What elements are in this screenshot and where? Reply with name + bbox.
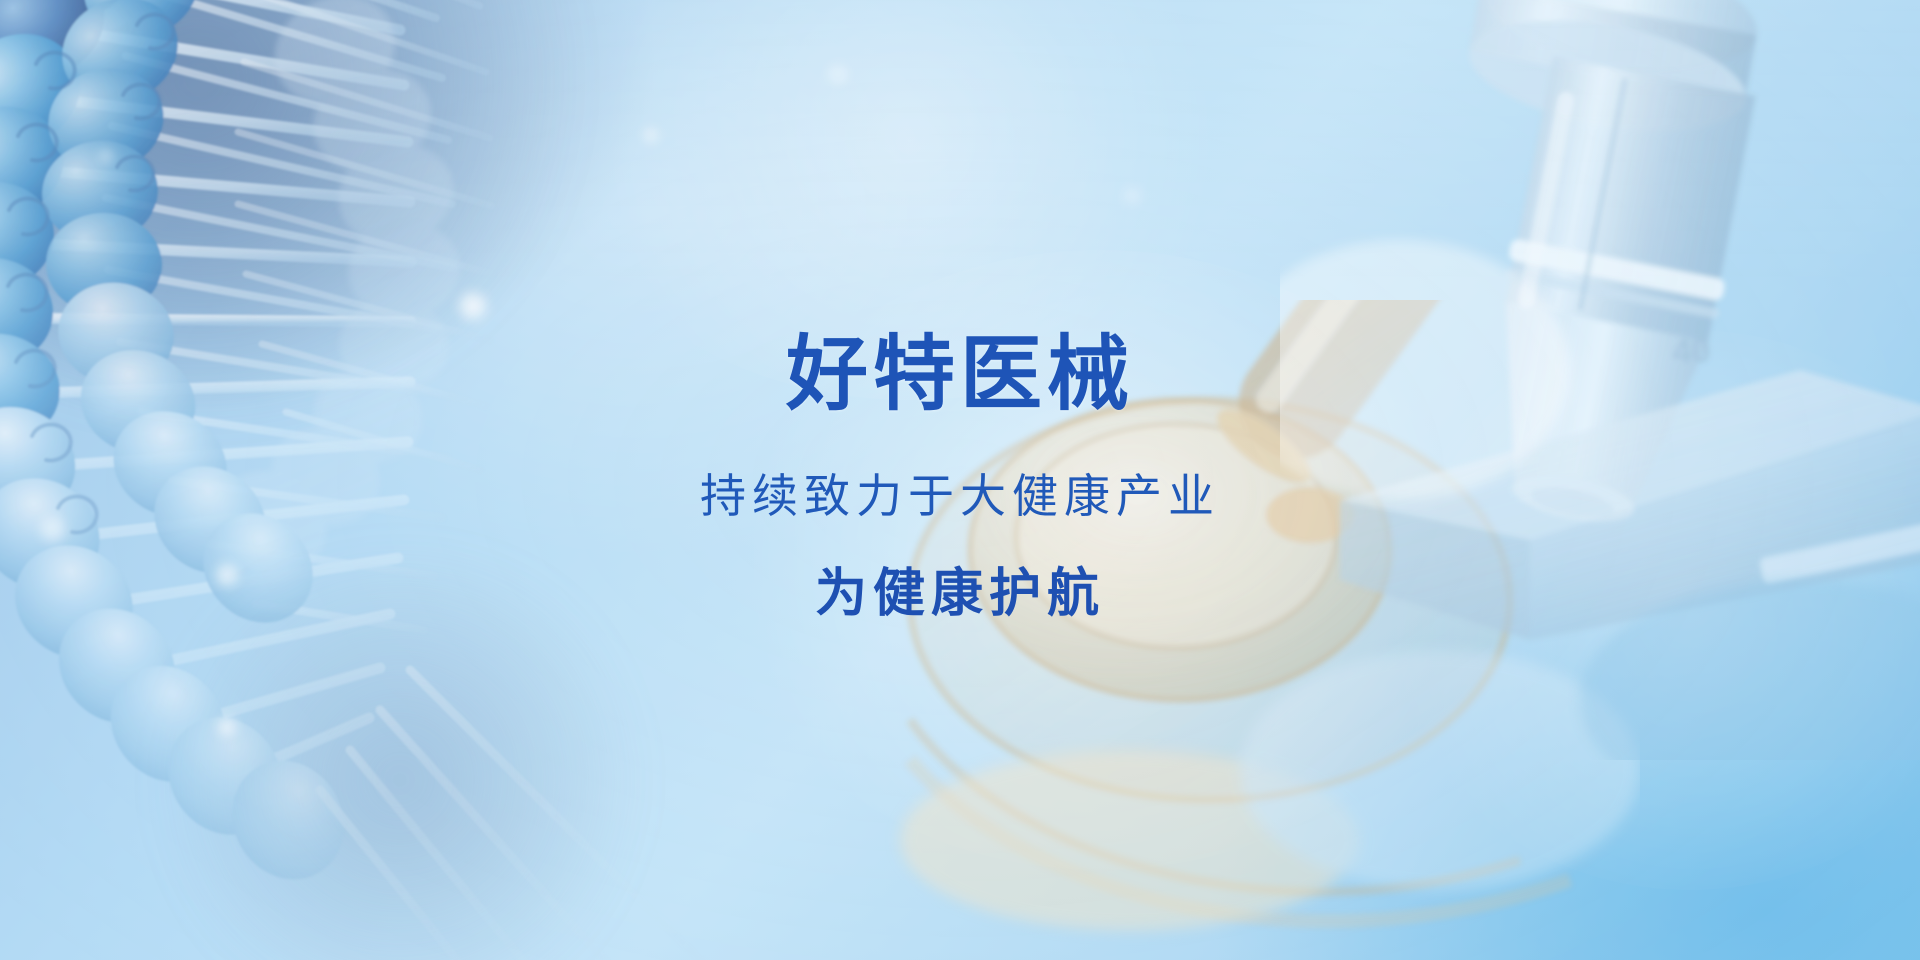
bokeh-dot: [455, 288, 491, 324]
hero-banner: 40 好特医械 持续致力于大健康产业 为健康护航: [0, 0, 1920, 960]
hero-subtitle: 持续致力于大健康产业: [0, 471, 1920, 522]
bokeh-dot: [640, 124, 662, 146]
bokeh-dot: [96, 146, 116, 166]
bokeh-dot: [1120, 184, 1144, 208]
hero-tagline: 为健康护航: [0, 566, 1920, 623]
page-title: 好特医械: [0, 332, 1920, 419]
bokeh-dot: [824, 60, 852, 88]
bokeh-dot: [214, 714, 240, 740]
hero-text-block: 好特医械 持续致力于大健康产业 为健康护航: [0, 332, 1920, 623]
